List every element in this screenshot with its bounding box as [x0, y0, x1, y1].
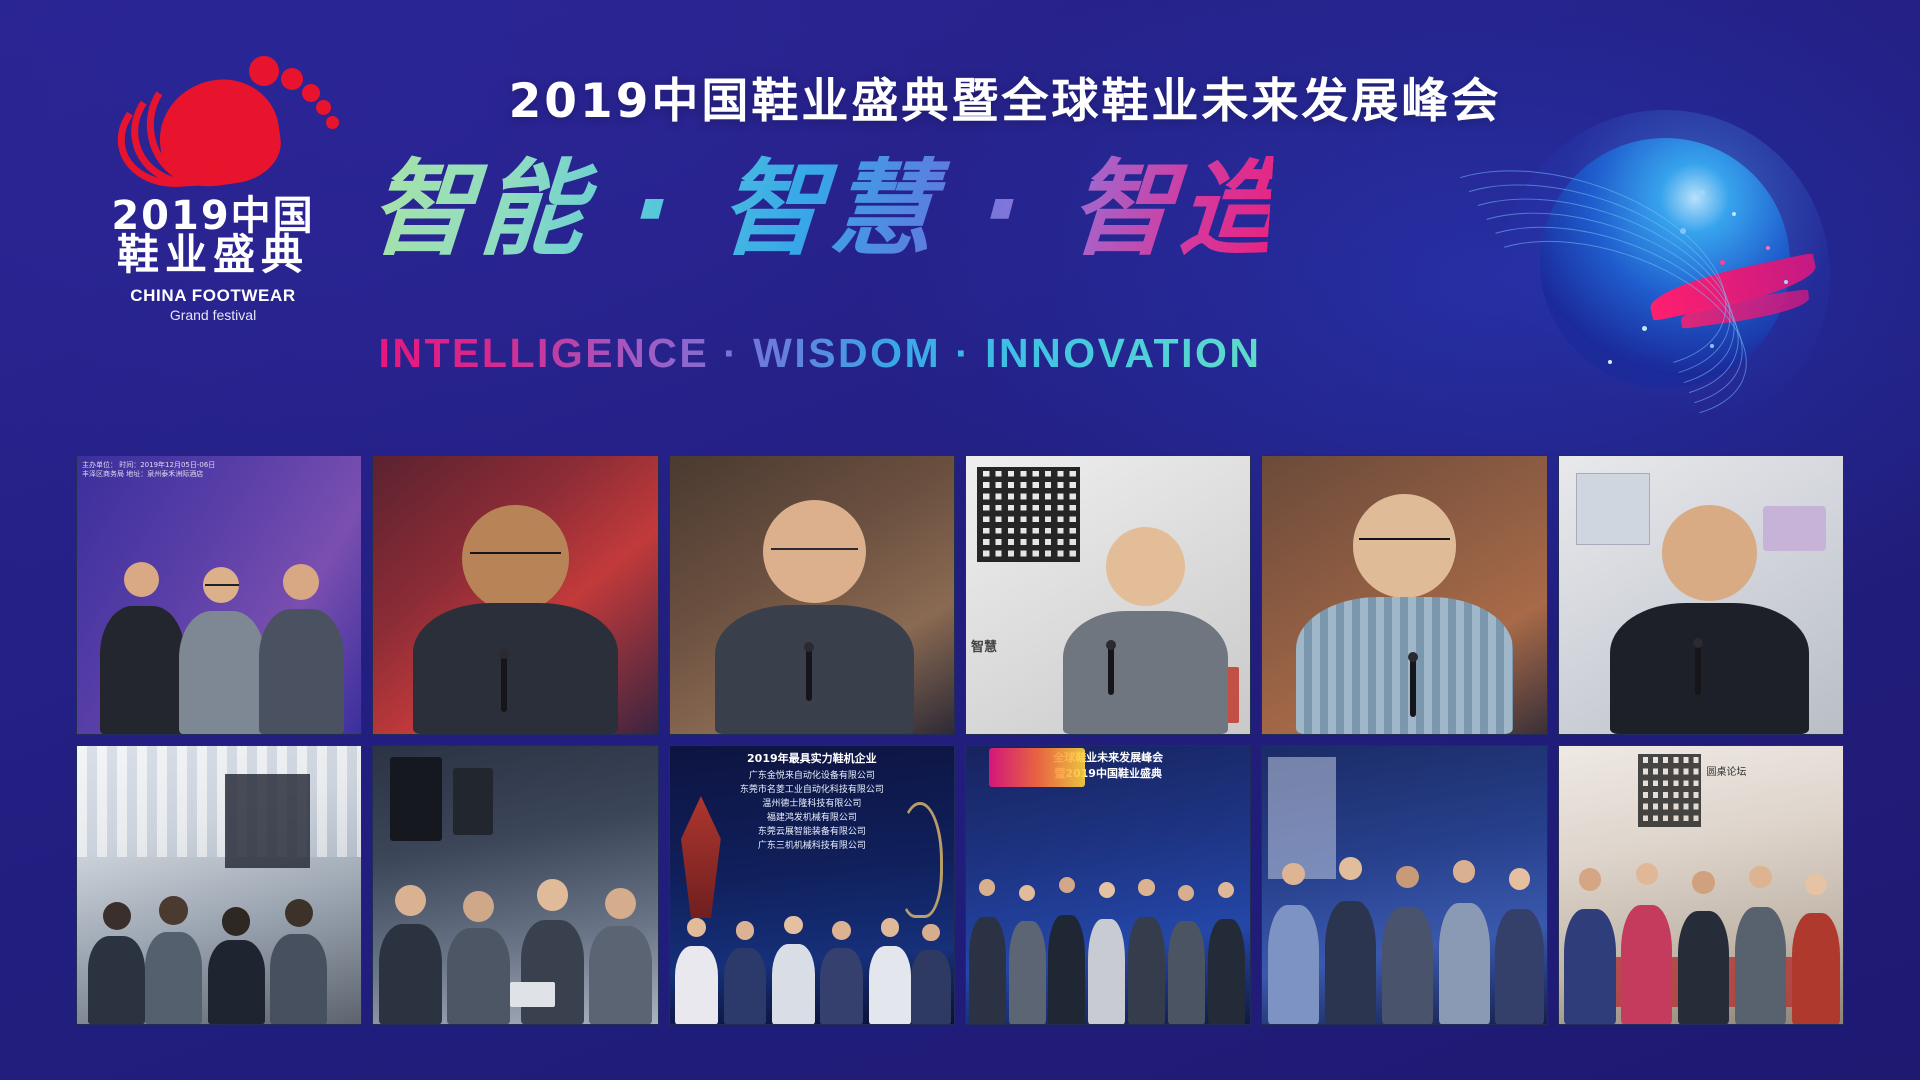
list-item[interactable] [1261, 455, 1547, 735]
list-item[interactable] [372, 745, 658, 1025]
list-item[interactable]: 智慧 [965, 455, 1251, 735]
list-item[interactable] [1558, 455, 1844, 735]
slogan-english: INTELLIGENCE · WISDOM · INNOVATION [370, 330, 1270, 377]
list-item[interactable]: 主办单位： 时间：2019年12月05日-06日 丰泽区商务局 地址：泉州泰禾洲… [76, 455, 362, 735]
logo-english-subtitle: Grand festival [170, 307, 256, 323]
list-item[interactable] [76, 745, 362, 1025]
event-logo: 2019中国 鞋业盛典 CHINA FOOTWEAR Grand festiva… [88, 46, 338, 376]
event-poster: 2019中国 鞋业盛典 CHINA FOOTWEAR Grand festiva… [0, 0, 1920, 1080]
slogan-chinese: 智能 · 智慧 · 智造 [366, 150, 1274, 270]
list-item[interactable]: 全球鞋业未来发展峰会 暨2019中国鞋业盛典 [965, 745, 1251, 1025]
photo-gallery: 主办单位： 时间：2019年12月05日-06日 丰泽区商务局 地址：泉州泰禾洲… [76, 455, 1844, 1025]
list-item[interactable]: 圆桌论坛 [1558, 745, 1844, 1025]
photo-caption: 圆桌论坛 [1707, 763, 1764, 807]
logo-chinese-text: 2019中国 鞋业盛典 [111, 197, 314, 276]
list-item[interactable] [372, 455, 658, 735]
company-name: 东莞市名菱工业自动化科技有限公司 [670, 784, 954, 798]
poster-header: 2019中国 鞋业盛典 CHINA FOOTWEAR Grand festiva… [0, 0, 1920, 430]
list-item[interactable] [669, 455, 955, 735]
list-item[interactable]: 2019年最具实力鞋机企业 广东金悦来自动化设备有限公司 东莞市名菱工业自动化科… [669, 745, 955, 1025]
company-name: 广东金悦来自动化设备有限公司 [670, 770, 954, 784]
page-title: 2019中国鞋业盛典暨全球鞋业未来发展峰会 [400, 62, 1610, 131]
footprint-icon [113, 46, 313, 191]
logo-line-2: 鞋业盛典 [111, 235, 314, 275]
list-item[interactable] [1261, 745, 1547, 1025]
logo-english-title: CHINA FOOTWEAR [130, 286, 295, 306]
particle-globe-graphic [1380, 120, 1860, 410]
